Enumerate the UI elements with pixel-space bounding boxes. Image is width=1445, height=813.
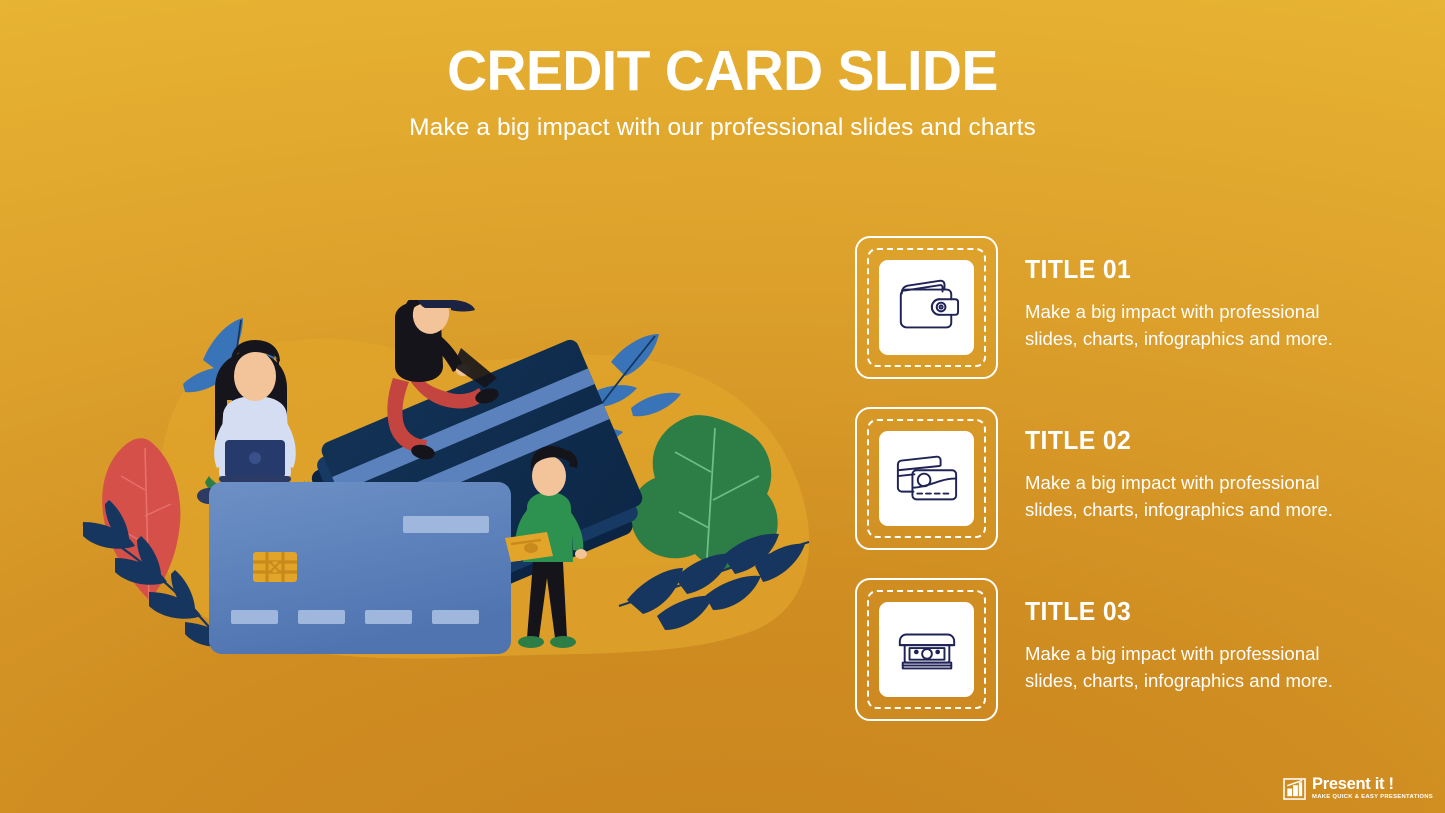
feature-list: TITLE 01 Make a big impact with professi… bbox=[855, 236, 1375, 721]
feature-description-2: Make a big impact with professional slid… bbox=[1025, 469, 1357, 524]
icon-tile-2 bbox=[879, 431, 974, 526]
slide-canvas: CREDIT CARD SLIDE Make a big impact with… bbox=[0, 0, 1445, 813]
page-title: CREDIT CARD SLIDE bbox=[22, 42, 1424, 101]
feature-title-2: TITLE 02 bbox=[1025, 429, 1365, 455]
page-subtitle: Make a big impact with our professional … bbox=[0, 114, 1445, 142]
icon-frame-2 bbox=[855, 407, 998, 550]
card-chip bbox=[253, 552, 297, 582]
feature-item-1[interactable]: TITLE 01 Make a big impact with professi… bbox=[855, 236, 1375, 379]
credit-cards-icon bbox=[894, 448, 960, 510]
icon-frame-3 bbox=[855, 578, 998, 721]
credit-card-people-illustration bbox=[75, 300, 835, 670]
feature-text-1: TITLE 01 Make a big impact with professi… bbox=[998, 236, 1375, 352]
icon-tile-3 bbox=[879, 602, 974, 697]
feature-text-3: TITLE 03 Make a big impact with professi… bbox=[998, 578, 1375, 694]
feature-text-2: TITLE 02 Make a big impact with professi… bbox=[998, 407, 1375, 523]
main-credit-card bbox=[209, 482, 511, 654]
feature-title-1: TITLE 01 bbox=[1025, 258, 1365, 284]
cash-stack-icon bbox=[894, 619, 960, 681]
feature-description-1: Make a big impact with professional slid… bbox=[1025, 298, 1357, 353]
wallet-icon bbox=[894, 277, 960, 339]
icon-tile-1 bbox=[879, 260, 974, 355]
logo-tagline: MAKE QUICK & EASY PRESENTATIONS bbox=[1312, 795, 1433, 801]
feature-item-2[interactable]: TITLE 02 Make a big impact with professi… bbox=[855, 407, 1375, 550]
present-it-logo[interactable]: Present it ! MAKE QUICK & EASY PRESENTAT… bbox=[1283, 776, 1433, 801]
logo-name: Present it ! bbox=[1312, 776, 1433, 793]
feature-description-3: Make a big impact with professional slid… bbox=[1025, 640, 1357, 695]
feature-title-3: TITLE 03 bbox=[1025, 600, 1365, 626]
logo-mark-icon bbox=[1283, 778, 1306, 800]
logo-text: Present it ! MAKE QUICK & EASY PRESENTAT… bbox=[1312, 776, 1433, 801]
slide-header: CREDIT CARD SLIDE Make a big impact with… bbox=[0, 0, 1445, 142]
icon-frame-1 bbox=[855, 236, 998, 379]
feature-item-3[interactable]: TITLE 03 Make a big impact with professi… bbox=[855, 578, 1375, 721]
